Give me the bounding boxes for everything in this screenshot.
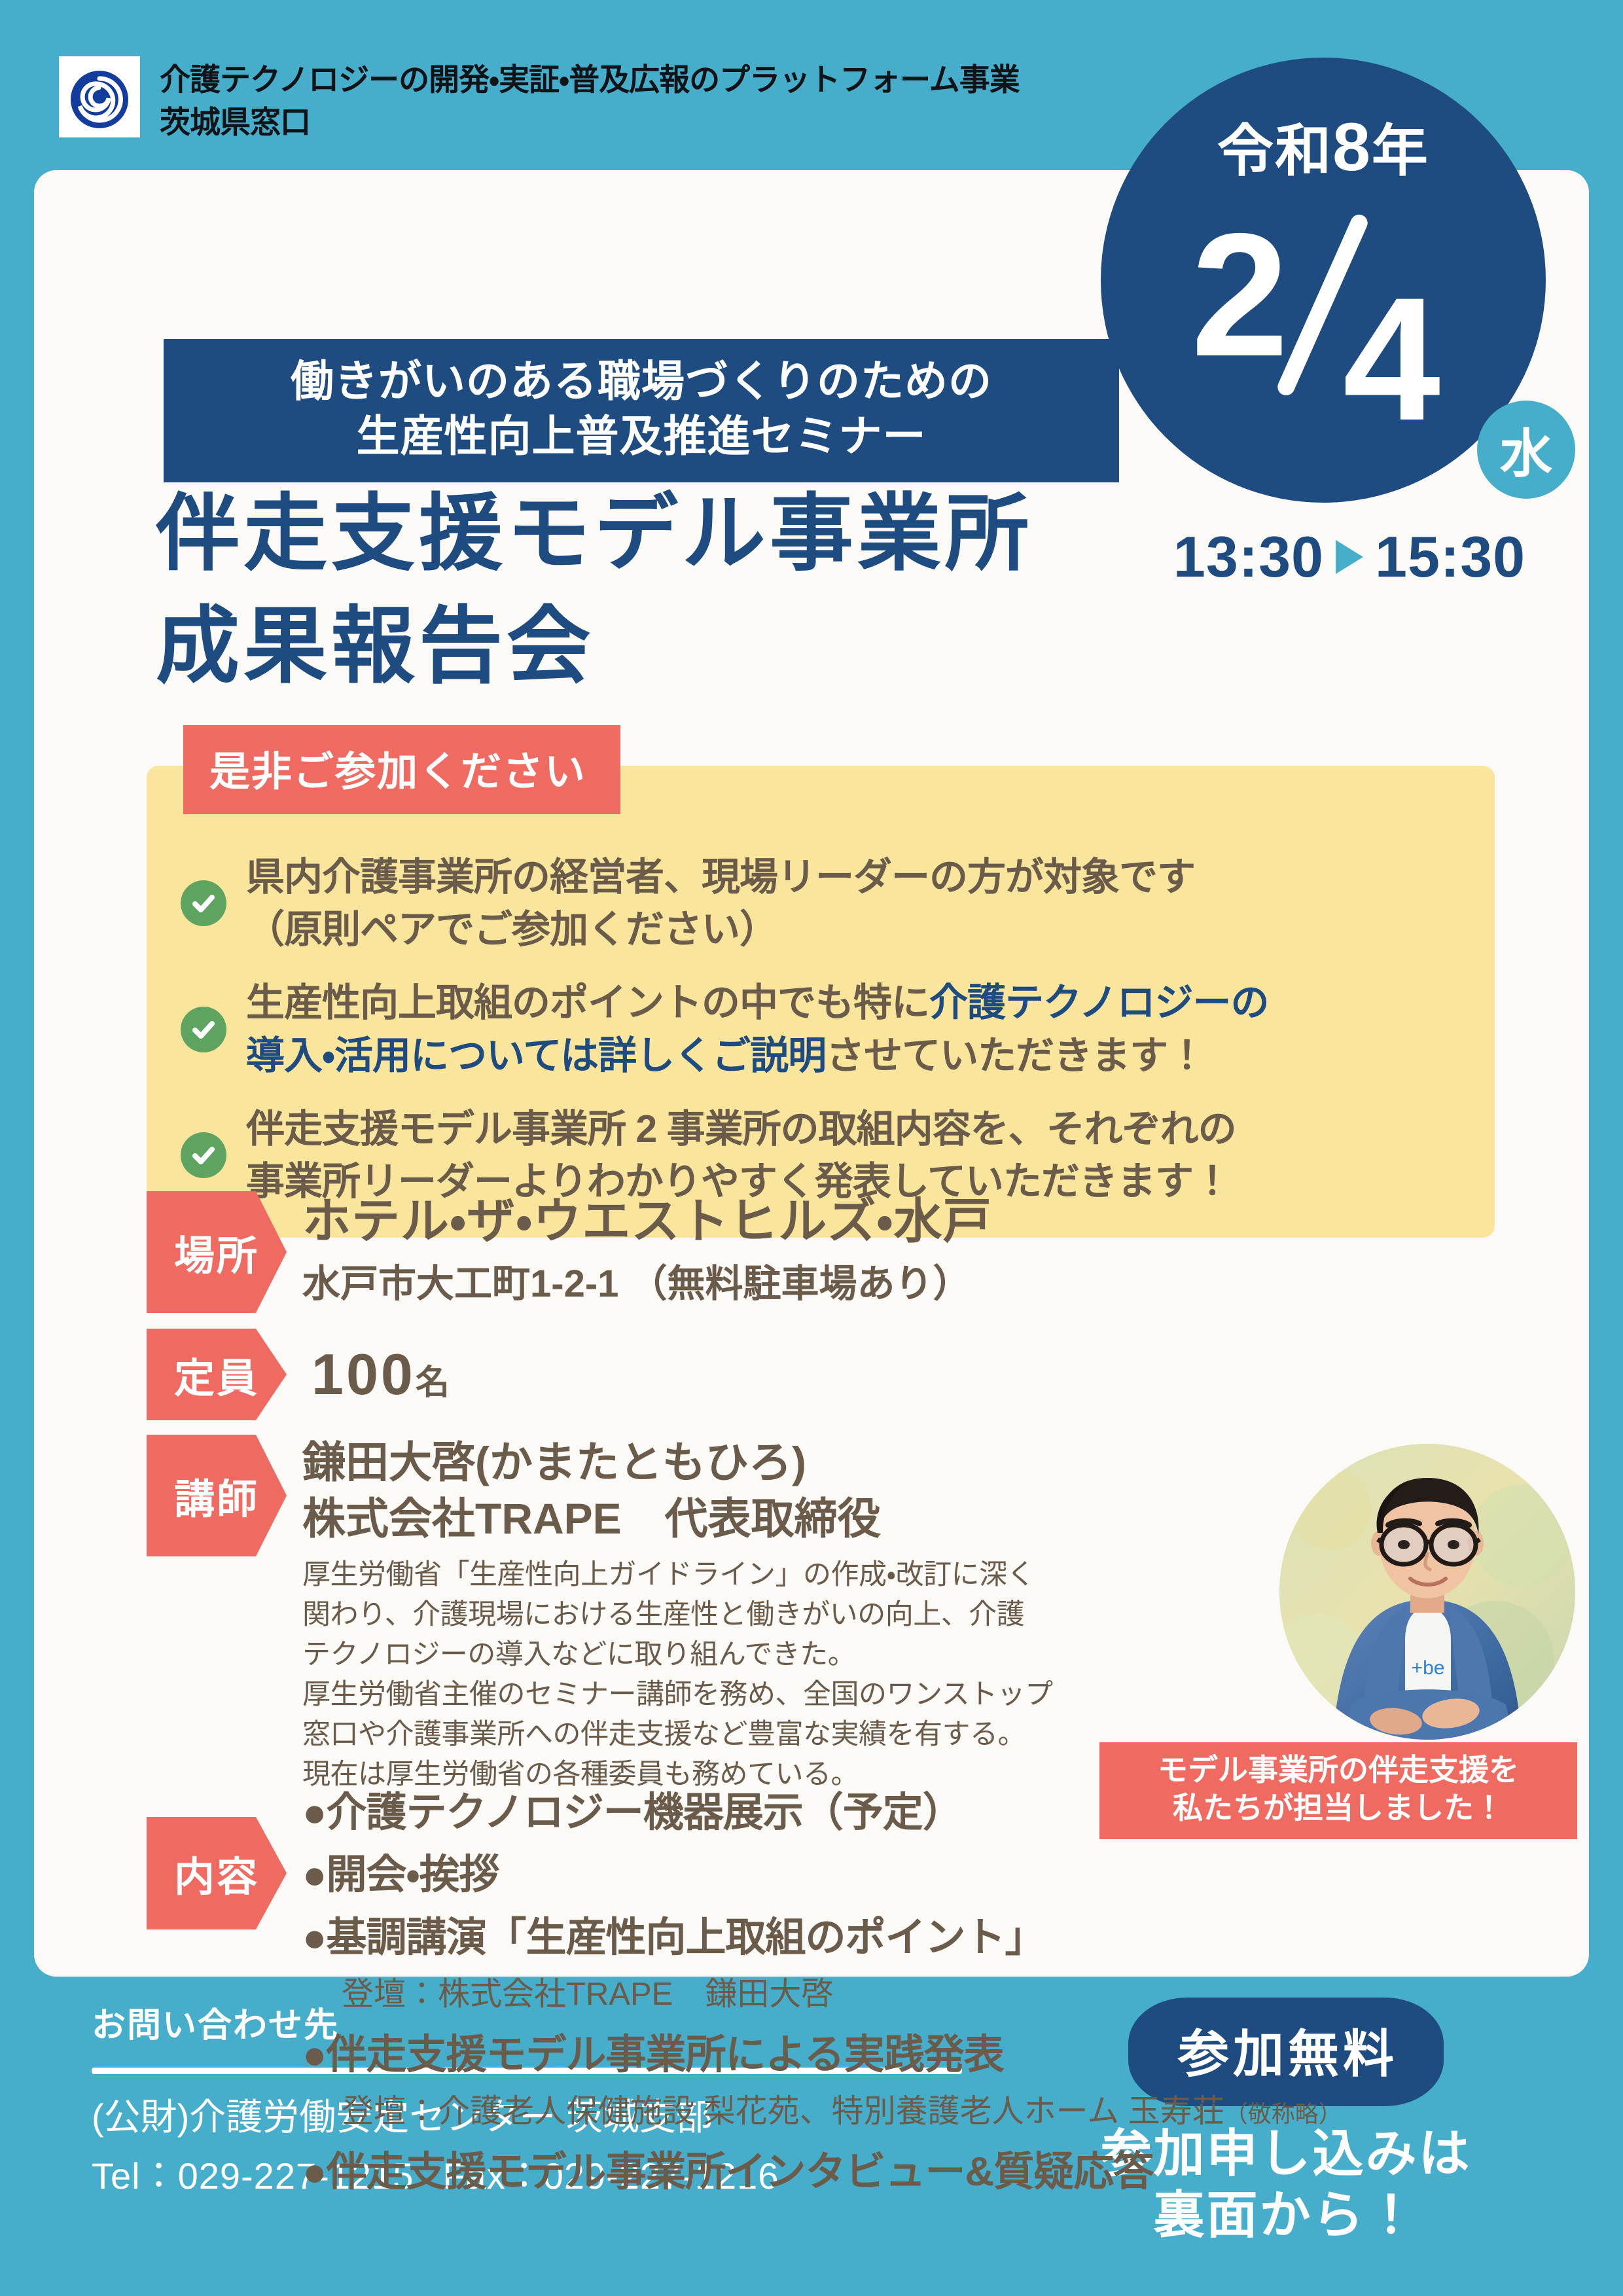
- check-circle-icon: [181, 880, 226, 926]
- bullet-1-line1: 県内介護事業所の経営者、現場リーダーの方が対象です: [246, 855, 1195, 899]
- list-item-sub: 登壇：株式会社TRAPE 鎌田大啓: [342, 1974, 1342, 2016]
- time-start: 13:30: [1173, 524, 1324, 590]
- bio-line-4: 厚生労働省主催のセミナー講師を務め、全国のワンストップ: [302, 1675, 1053, 1715]
- list-item: ●伴走支援モデル事業所インタビュー&質疑応答: [302, 2146, 1342, 2198]
- list-item-sub: 登壇：介護老人保健施設 梨花苑、特別養護老人ホーム 玉寿荘（敬称略）: [342, 2091, 1342, 2133]
- date-month-day: 2 4: [1101, 156, 1546, 463]
- bullet-2-line2-highlight: 導入・活用については詳しくご説明: [246, 1034, 826, 1077]
- check-circle-icon: [181, 1132, 226, 1178]
- place-tag: 場所: [147, 1191, 287, 1313]
- list-item: ●伴走支援モデル事業所による実践発表: [302, 2029, 1342, 2081]
- lecturer-name: 鎌田大啓(かまたともひろ): [302, 1435, 1053, 1491]
- header-text-block: 介護テクノロジーの開発・実証・普及広報のプラットフォーム事業 茨城県窓口: [160, 54, 1020, 144]
- lecturer-bio: 厚生労働省「生産性向上ガイドライン」の作成・改訂に深く 関わり、介護現場における…: [302, 1555, 1053, 1795]
- program-head: 内容 ●介護テクノロジー機器展示（予定） ●開会・挨拶 ●基調講演「生産性向上取…: [147, 1787, 1554, 2208]
- main-card: 令和8年 2 4 水 13:30 15:30 働きがいのある職場づくりのための …: [34, 170, 1589, 1977]
- lecturer-affiliation: 株式会社TRAPE 代表取締役: [302, 1491, 1053, 1547]
- list-item: 生産性向上取組のポイントの中でも特に介護テクノロジーの 導入・活用については詳し…: [169, 977, 1472, 1081]
- bio-line-1: 厚生労働省「生産性向上ガイドライン」の作成・改訂に深く: [302, 1555, 1053, 1595]
- place-body: ホテル・ザ・ウエストヒルズ・水戸 水戸市大工町1-2-1 （無料駐車場あり）: [302, 1191, 991, 1313]
- play-triangle-icon: [1336, 540, 1363, 574]
- seminar-banner-line1: 働きがいのある職場づくりのための: [170, 353, 1113, 408]
- capacity-tag: 定員: [147, 1329, 287, 1420]
- bullet-2-line1-plain: 生産性向上取組のポイントの中でも特に: [246, 981, 929, 1024]
- bullet-2-line1-highlight: 介護テクノロジーの: [929, 981, 1268, 1024]
- program-section: 内容 ●介護テクノロジー機器展示（予定） ●開会・挨拶 ●基調講演「生産性向上取…: [147, 1787, 1554, 2208]
- lecturer-tag: 講師: [147, 1435, 287, 1556]
- bullet-2-line2-plain: させていただきます！: [826, 1034, 1205, 1077]
- please-join-tag: 是非ご参加ください: [183, 725, 620, 814]
- bio-line-3: テクノロジーの導入などに取り組んできた。: [302, 1635, 1053, 1675]
- bullet-text: 県内介護事業所の経営者、現場リーダーの方が対象です （原則ペアでご参加ください）: [246, 851, 1195, 956]
- svg-text:+be: +be: [1412, 1657, 1445, 1679]
- capacity-unit: 名: [416, 1364, 452, 1402]
- date-month: 2: [1191, 207, 1289, 382]
- speaker-honorific-note: （敬称略）: [1224, 2100, 1342, 2127]
- program-list: ●介護テクノロジー機器展示（予定） ●開会・挨拶 ●基調講演「生産性向上取組のポ…: [302, 1787, 1342, 2208]
- bullet-text: 生産性向上取組のポイントの中でも特に介護テクノロジーの 導入・活用については詳し…: [246, 977, 1268, 1081]
- check-circle-icon: [181, 1007, 226, 1052]
- lecturer-portrait-photo: +be: [1279, 1444, 1575, 1740]
- mhlw-swirl-logo-icon: [59, 56, 140, 137]
- speaker-line: 登壇：介護老人保健施設 梨花苑、特別養護老人ホーム 玉寿荘: [342, 2094, 1224, 2129]
- place-address: 水戸市大工町1-2-1 （無料駐車場あり）: [302, 1257, 991, 1310]
- bullet-1-line2: （原則ペアでご参加ください）: [246, 908, 777, 951]
- date-day: 4: [1343, 271, 1440, 446]
- photo-caption-line1: モデル事業所の伴走支援を: [1111, 1751, 1565, 1789]
- time-range: 13:30 15:30: [1120, 524, 1578, 590]
- bullet-3-line1: 伴走支援モデル事業所 2 事業所の取組内容を、それぞれの: [246, 1107, 1236, 1151]
- photo-caption-badge: モデル事業所の伴走支援を 私たちが担当しました！: [1099, 1742, 1577, 1839]
- highlights-panel: 県内介護事業所の経営者、現場リーダーの方が対象です （原則ペアでご参加ください）…: [147, 766, 1495, 1238]
- main-title-line2: 成果報告会: [156, 590, 1033, 703]
- list-item: ●基調講演「生産性向上取組のポイント」: [302, 1912, 1342, 1964]
- poster-root: 介護テクノロジーの開発・実証・普及広報のプラットフォーム事業 茨城県窓口 令和8…: [0, 0, 1623, 2296]
- seminar-banner: 働きがいのある職場づくりのための 生産性向上普及推進セミナー: [164, 339, 1119, 482]
- list-item: 県内介護事業所の経営者、現場リーダーの方が対象です （原則ペアでご参加ください）: [169, 851, 1472, 956]
- weekday-badge: 水: [1477, 401, 1575, 499]
- bio-line-5: 窓口や介護事業所への伴走支援など豊富な実績を有する。: [302, 1715, 1053, 1755]
- list-item: ●開会・挨拶: [302, 1849, 1342, 1901]
- main-title-line1: 伴走支援モデル事業所: [156, 478, 1033, 590]
- time-end: 15:30: [1375, 524, 1525, 590]
- info-rows: 場所 ホテル・ザ・ウエストヒルズ・水戸 水戸市大工町1-2-1 （無料駐車場あり…: [147, 1191, 1521, 1795]
- photo-caption-line2: 私たちが担当しました！: [1111, 1789, 1565, 1827]
- capacity-value: 100: [312, 1342, 416, 1407]
- bio-line-2: 関わり、介護現場における生産性と働きがいの向上、介護: [302, 1595, 1053, 1635]
- header-line2: 茨城県窓口: [160, 101, 1020, 144]
- capacity-value-group: 100名: [302, 1341, 452, 1408]
- header-line1: 介護テクノロジーの開発・実証・普及広報のプラットフォーム事業: [160, 59, 1020, 101]
- place-row: 場所 ホテル・ザ・ウエストヒルズ・水戸 水戸市大工町1-2-1 （無料駐車場あり…: [147, 1191, 1521, 1313]
- seminar-banner-line2: 生産性向上普及推進セミナー: [170, 408, 1113, 463]
- page-title: 伴走支援モデル事業所 成果報告会: [156, 478, 1033, 702]
- capacity-row: 定員 100名: [147, 1329, 1521, 1420]
- program-tag: 内容: [147, 1817, 287, 1929]
- place-name: ホテル・ザ・ウエストヒルズ・水戸: [302, 1193, 991, 1251]
- lecturer-body: 鎌田大啓(かまたともひろ) 株式会社TRAPE 代表取締役 厚生労働省「生産性向…: [302, 1435, 1053, 1795]
